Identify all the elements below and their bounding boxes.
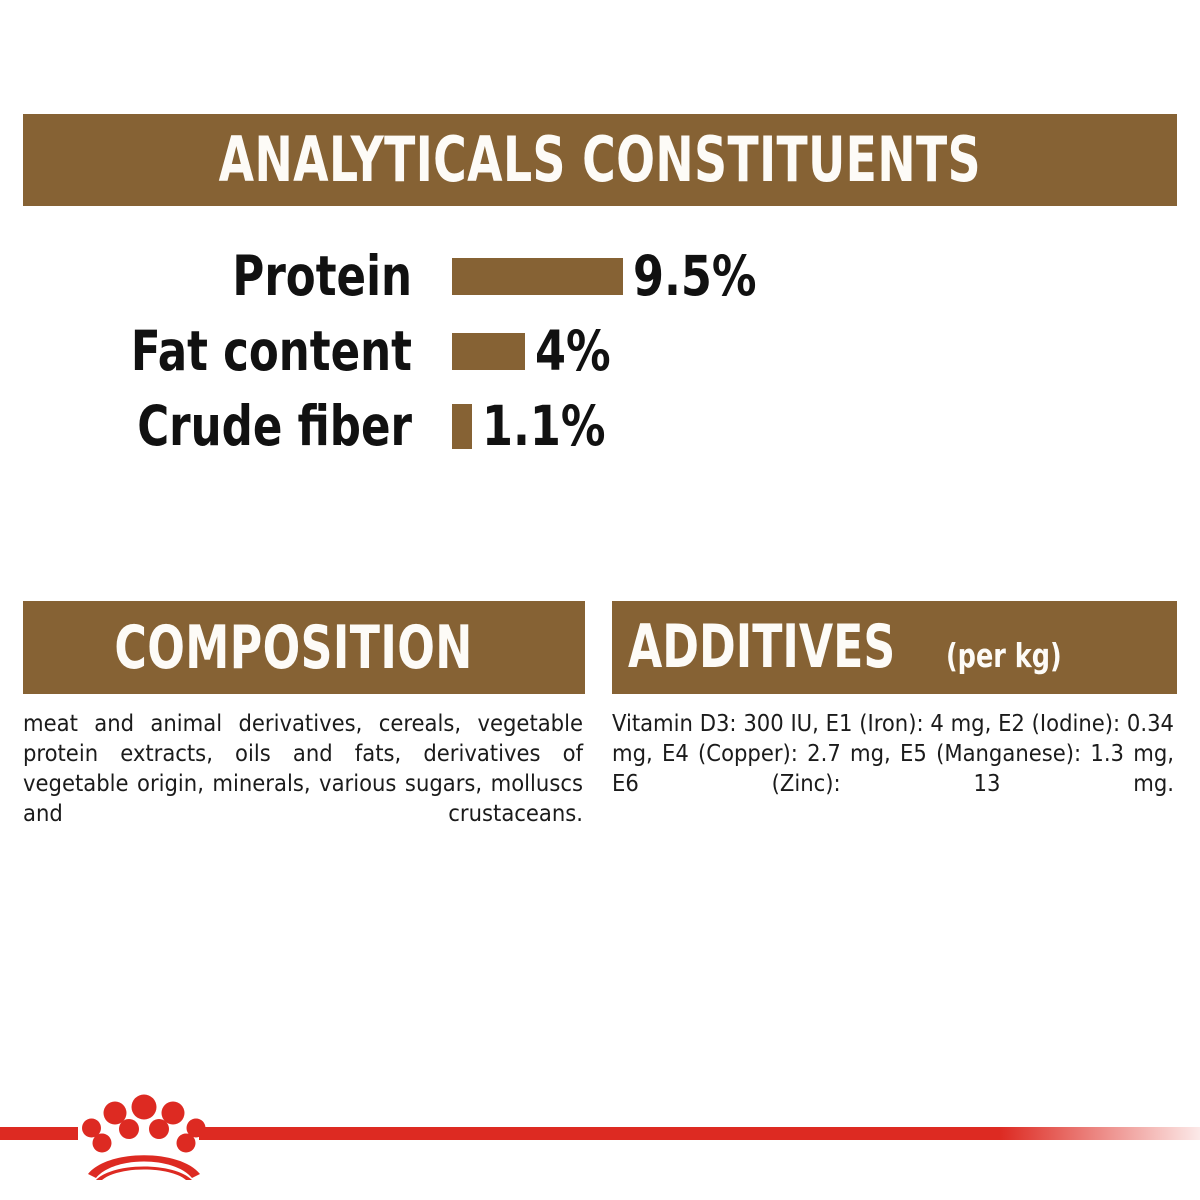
chart-value-protein: 9.5% bbox=[633, 249, 757, 304]
additives-title: ADDITIVES bbox=[628, 601, 895, 694]
chart-value-crude-fiber: 1.1% bbox=[482, 399, 606, 454]
analyticals-constituents-header: ANALYTICALS CONSTITUENTS bbox=[23, 114, 1177, 206]
composition-header: COMPOSITION bbox=[23, 601, 585, 694]
additives-header: ADDITIVES (per kg) bbox=[612, 601, 1177, 694]
analyticals-bar-chart: Protein 9.5% Fat content 4% Crude fiber … bbox=[0, 240, 1200, 470]
chart-bar-protein bbox=[452, 258, 623, 295]
additives-body: Vitamin D3: 300 IU, E1 (Iron): 4 mg, E2 … bbox=[612, 708, 1174, 828]
chart-value-fat-content: 4% bbox=[535, 324, 611, 379]
additives-subtitle: (per kg) bbox=[946, 609, 1062, 694]
chart-label-fat-content: Fat content bbox=[49, 324, 412, 379]
footer-rule-right bbox=[199, 1127, 1200, 1140]
chart-row-protein: Protein 9.5% bbox=[0, 240, 1200, 312]
chart-bar-wrap-crude-fiber: 1.1% bbox=[452, 390, 619, 462]
chart-row-fat-content: Fat content 4% bbox=[0, 315, 1200, 387]
chart-bar-fat-content bbox=[452, 333, 525, 370]
chart-label-crude-fiber: Crude fiber bbox=[49, 399, 412, 454]
royal-canin-crown-icon bbox=[82, 1094, 206, 1180]
chart-row-crude-fiber: Crude fiber 1.1% bbox=[0, 390, 1200, 462]
composition-body: meat and animal derivatives, cereals, ve… bbox=[23, 708, 583, 858]
footer-rule-left bbox=[0, 1127, 78, 1140]
chart-bar-wrap-fat-content: 4% bbox=[452, 315, 619, 387]
chart-bar-crude-fiber bbox=[452, 404, 472, 449]
nutrition-panel: ANALYTICALS CONSTITUENTS Protein 9.5% Fa… bbox=[0, 0, 1200, 1200]
chart-bar-wrap-protein: 9.5% bbox=[452, 240, 770, 312]
analyticals-title: ANALYTICALS CONSTITUENTS bbox=[219, 129, 981, 191]
chart-label-protein: Protein bbox=[49, 249, 412, 304]
composition-title: COMPOSITION bbox=[114, 618, 472, 678]
